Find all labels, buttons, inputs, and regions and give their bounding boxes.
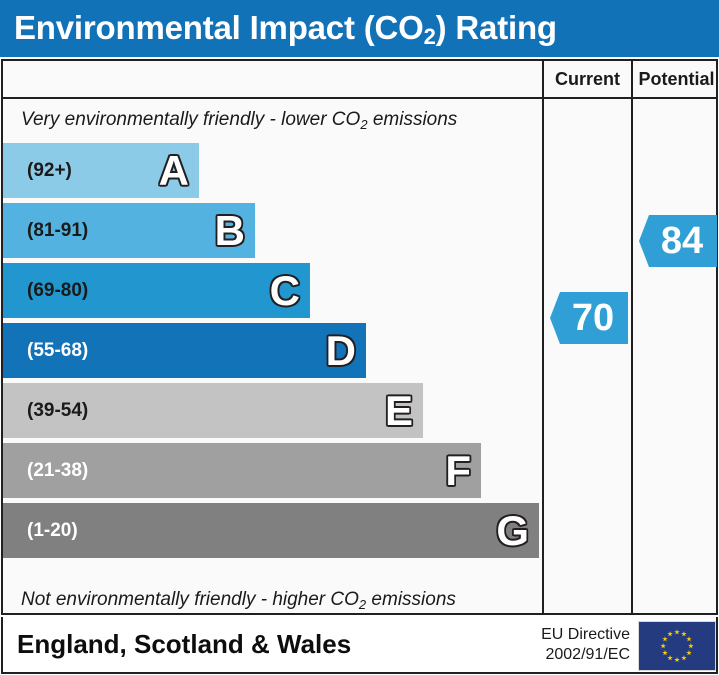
band-range-label: (92+) <box>27 160 72 182</box>
band-letter-label: D <box>326 330 356 372</box>
page-title: Environmental Impact (CO2) Rating <box>14 9 557 47</box>
footer-directive-label: EU Directive 2002/91/EC <box>524 625 630 665</box>
potential-rating-value: 84 <box>661 222 703 260</box>
column-divider-current <box>542 61 544 613</box>
rating-band-b: (81-91)B <box>3 203 255 258</box>
current-rating-value: 70 <box>572 299 614 337</box>
band-range-label: (39-54) <box>27 400 88 422</box>
caption-not-friendly: Not environmentally friendly - higher CO… <box>21 589 456 611</box>
current-rating-arrow: 70 <box>550 292 628 344</box>
caption-bottom-suffix: emissions <box>366 589 456 610</box>
certificate-title-bar: Environmental Impact (CO2) Rating <box>0 0 719 57</box>
rating-band-g: (1-20)G <box>3 503 539 558</box>
band-range-label: (81-91) <box>27 220 88 242</box>
band-letter-label: A <box>159 150 189 192</box>
band-letter-label: B <box>215 210 245 252</box>
rating-band-a: (92+)A <box>3 143 199 198</box>
column-header-potential: Potential <box>633 69 719 90</box>
band-range-label: (21-38) <box>27 460 88 482</box>
page-title-subscript: 2 <box>424 24 436 49</box>
band-letter-label: E <box>385 390 413 432</box>
caption-top-prefix: Very environmentally friendly - lower CO <box>21 109 360 130</box>
caption-bottom-subscript: 2 <box>359 597 366 612</box>
footer-directive-line1: EU Directive <box>524 625 630 645</box>
band-range-label: (1-20) <box>27 520 78 542</box>
column-header-current: Current <box>544 69 631 90</box>
caption-top-suffix: emissions <box>368 109 458 130</box>
footer-region-label: England, Scotland & Wales <box>17 629 351 660</box>
band-range-label: (69-80) <box>27 280 88 302</box>
potential-rating-arrow: 84 <box>639 215 717 267</box>
epc-environmental-impact-certificate: Environmental Impact (CO2) Rating Curren… <box>0 0 719 675</box>
caption-very-friendly: Very environmentally friendly - lower CO… <box>21 109 457 131</box>
band-range-label: (55-68) <box>27 340 88 362</box>
eu-flag-icon <box>638 621 716 671</box>
caption-bottom-prefix: Not environmentally friendly - higher CO <box>21 589 359 610</box>
certificate-footer: England, Scotland & Wales EU Directive 2… <box>1 617 718 674</box>
rating-band-e: (39-54)E <box>3 383 423 438</box>
caption-top-subscript: 2 <box>360 117 367 132</box>
footer-directive-line2: 2002/91/EC <box>524 645 630 665</box>
band-letter-label: G <box>496 510 529 552</box>
page-title-prefix: Environmental Impact (CO <box>14 9 424 46</box>
band-letter-label: C <box>270 270 300 312</box>
rating-band-c: (69-80)C <box>3 263 310 318</box>
rating-band-d: (55-68)D <box>3 323 366 378</box>
column-divider-potential <box>631 61 633 613</box>
ratings-table: Current Potential Very environmentally f… <box>1 59 718 615</box>
band-letter-label: F <box>445 450 471 492</box>
page-title-suffix: ) Rating <box>436 9 557 46</box>
rating-band-f: (21-38)F <box>3 443 481 498</box>
